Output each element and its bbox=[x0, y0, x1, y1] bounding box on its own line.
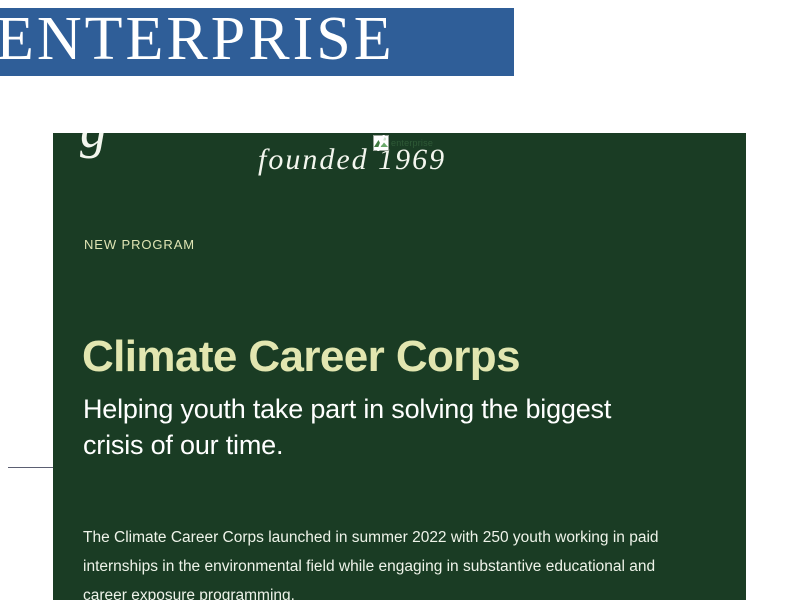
hero-panel: g founded 1969 enterprise NEW PROGRAM Cl… bbox=[53, 133, 746, 600]
masthead-banner: ENTERPRISE bbox=[0, 8, 514, 76]
broken-image-icon bbox=[373, 135, 389, 151]
masthead-title: ENTERPRISE bbox=[0, 8, 395, 76]
horizontal-rule bbox=[8, 467, 53, 468]
page-root: ENTERPRISE E g founded 1969 enterprise N… bbox=[0, 0, 800, 600]
hero-body-paragraph: The Climate Career Corps launched in sum… bbox=[83, 523, 693, 600]
broken-image-placeholder: enterprise bbox=[373, 135, 433, 155]
hero-eyebrow-label: NEW PROGRAM bbox=[84, 236, 195, 254]
hero-title: Climate Career Corps bbox=[82, 330, 520, 384]
clipped-script-glyph: g bbox=[80, 133, 107, 159]
broken-image-alt-text: enterprise bbox=[391, 135, 433, 151]
hero-subtitle: Helping youth take part in solving the b… bbox=[83, 391, 613, 463]
